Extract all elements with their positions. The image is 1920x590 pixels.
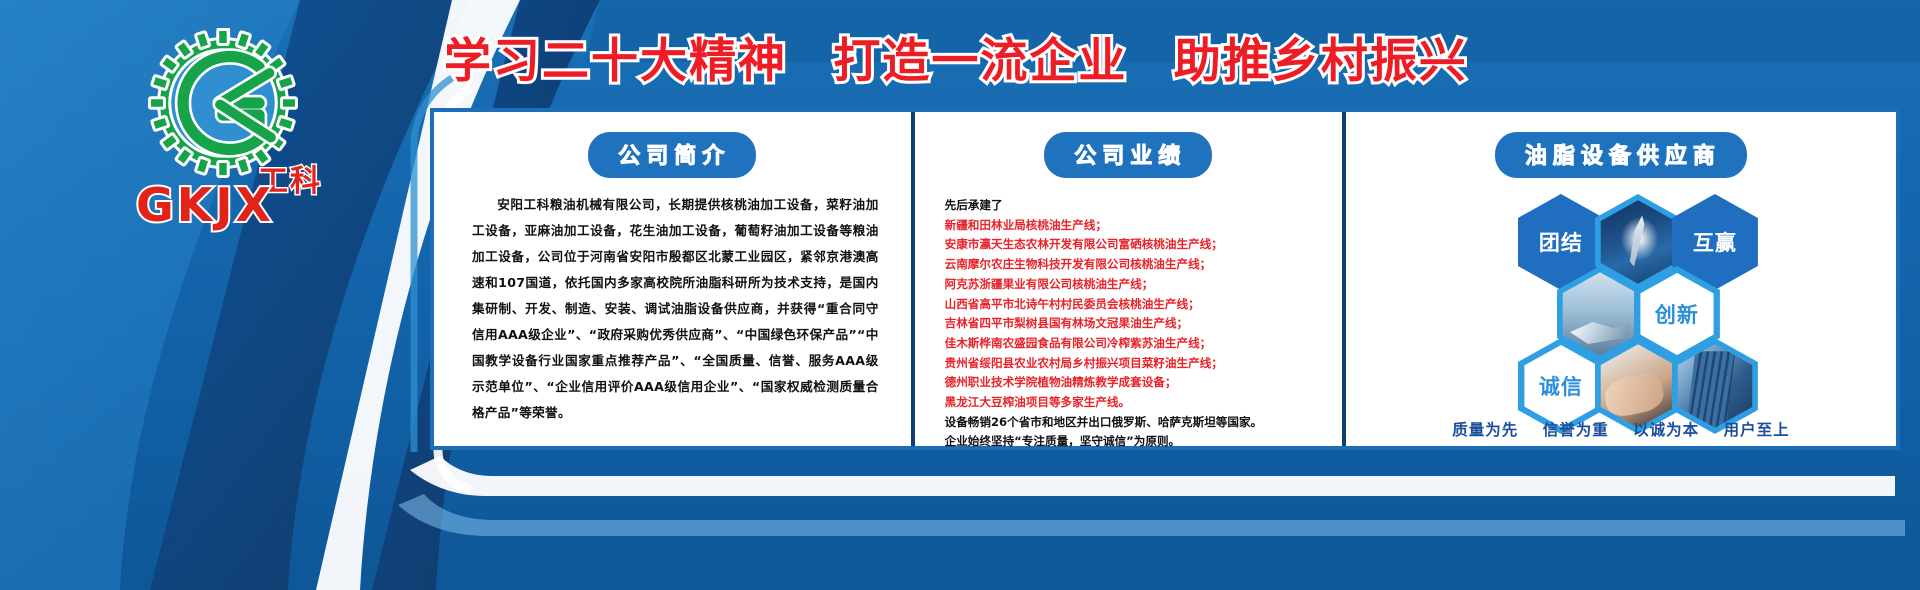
slogan-part-1: 质量为先: [1452, 421, 1518, 439]
headline-segment-2: 打造一流企业: [833, 34, 1127, 89]
performance-lead: 先后承建了: [945, 196, 1328, 216]
performance-footer: 企业始终坚持“专注质量，坚守诚信”为原则。: [945, 432, 1328, 452]
performance-item: 贵州省绥阳县农业农村局乡村振兴项目菜籽油生产线；: [945, 354, 1328, 374]
performance-item: 新疆和田林业局核桃油生产线；: [945, 216, 1328, 236]
performance-item: 山西省高平市北诗午村村民委员会核桃油生产线；: [945, 295, 1328, 315]
performance-item: 吉林省四平市梨树县国有林场文冠果油生产线；: [945, 314, 1328, 334]
panel-title-badge-supplier: 油脂设备供应商: [1495, 132, 1747, 178]
performance-item: 阿克苏浙疆果业有限公司核桃油生产线；: [945, 275, 1328, 295]
poster-headline: 学习二十大精神 打造一流企业 助推乡村振兴: [430, 22, 1470, 91]
supplier-slogan: 质量为先 信誉为重 以诚为本 用户至上: [1346, 418, 1896, 440]
hexagon-label: 创新: [1655, 299, 1699, 329]
performance-item: 佳木斯桦南农盛园食品有限公司冷榨紫苏油生产线；: [945, 334, 1328, 354]
panel-title-badge-performance: 公司业绩: [1044, 132, 1212, 178]
company-profile-text: 安阳工科粮油机械有限公司，长期提供核桃油加工设备，菜籽油加工设备，亚麻油加工设备…: [448, 192, 897, 425]
hexagon-grid: 团结 互赢 创新: [1360, 188, 1882, 402]
poster-canvas: 工科 GKJX 学习二十大精神 打造一流企业 助推乡村振兴 公司简介 安阳工科粮…: [0, 0, 1920, 590]
slogan-part-2: 信誉为重: [1543, 421, 1609, 439]
slogan-part-3: 以诚为本: [1633, 421, 1699, 439]
performance-item: 安康市瀛天生态农林开发有限公司富硒核桃油生产线；: [945, 235, 1328, 255]
slogan-part-4: 用户至上: [1724, 421, 1790, 439]
performance-item: 黑龙江大豆榨油项目等多家生产线。: [945, 393, 1328, 413]
panel-company-performance: 公司业绩 先后承建了 新疆和田林业局核桃油生产线； 安康市瀛天生态农林开发有限公…: [911, 112, 1342, 446]
headline-segment-1: 学习二十大精神: [444, 34, 787, 89]
company-logo: 工科 GKJX: [118, 28, 328, 213]
headline-segment-3: 助推乡村振兴: [1174, 34, 1468, 89]
performance-footer: 设备畅销26个省市和地区并出口俄罗斯、哈萨克斯坦等国家。: [945, 413, 1328, 433]
performance-item: 云南摩尔农庄生物科技开发有限公司核桃油生产线；: [945, 255, 1328, 275]
panel-company-profile: 公司简介 安阳工科粮油机械有限公司，长期提供核桃油加工设备，菜籽油加工设备，亚麻…: [434, 112, 911, 446]
performance-list: 先后承建了 新疆和田林业局核桃油生产线； 安康市瀛天生态农林开发有限公司富硒核桃…: [929, 196, 1328, 452]
performance-item: 德州职业技术学院植物油精炼教学成套设备；: [945, 373, 1328, 393]
panel-title-badge-profile: 公司简介: [588, 132, 756, 178]
content-frame: 公司简介 安阳工科粮油机械有限公司，长期提供核桃油加工设备，菜籽油加工设备，亚麻…: [430, 108, 1900, 450]
hexagon-label: 互赢: [1693, 227, 1737, 257]
panel-supplier: 油脂设备供应商 团结 互赢 创: [1342, 112, 1896, 446]
hexagon-label: 诚信: [1539, 371, 1583, 401]
hexagon-label: 团结: [1539, 227, 1583, 257]
logo-latin-name: GKJX: [136, 178, 274, 232]
